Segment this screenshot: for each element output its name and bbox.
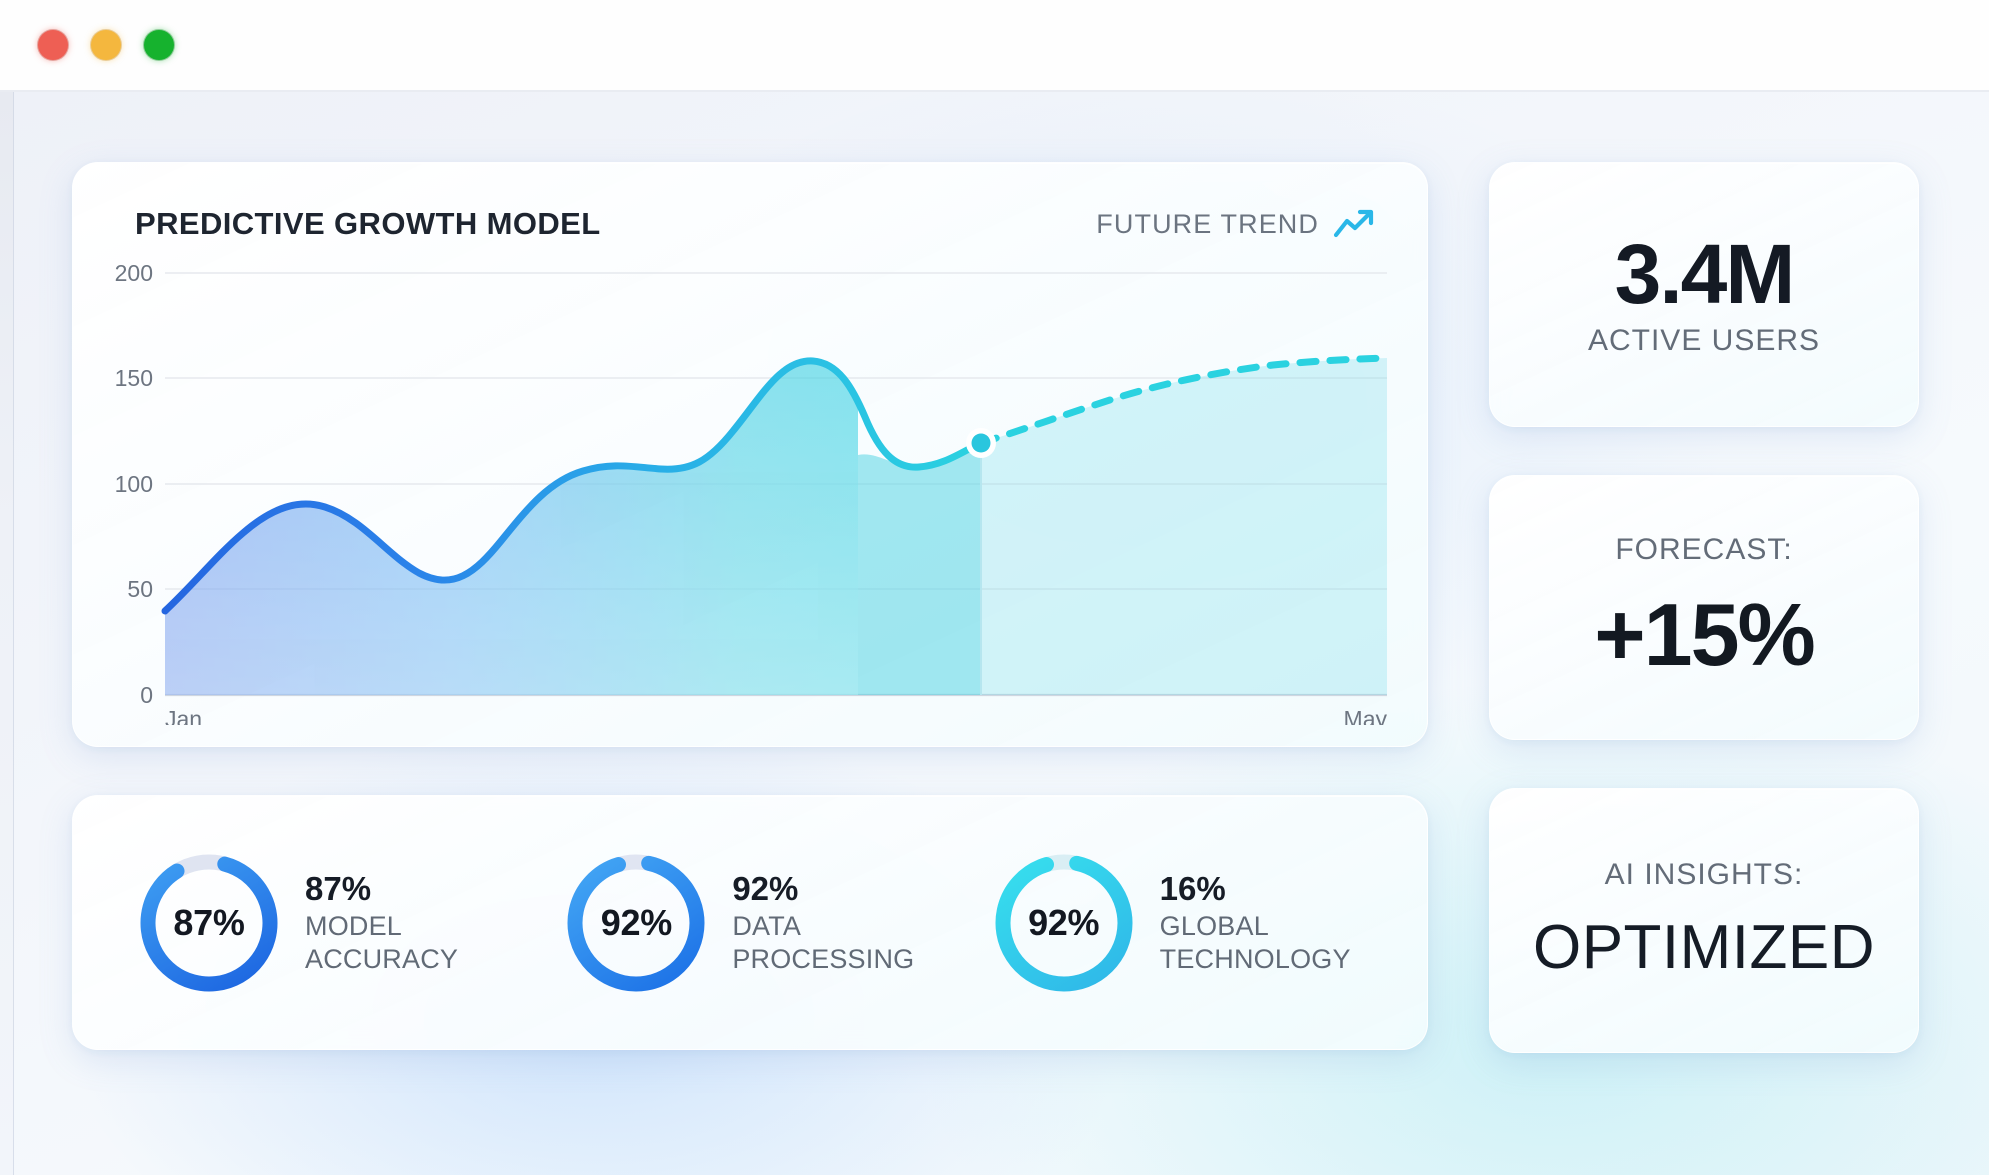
gauge-percent: 16%	[1160, 870, 1351, 909]
growth-area-chart: 200 150 100 50 0	[113, 255, 1387, 725]
page-title: PREDICTIVE GROWTH MODEL	[135, 206, 601, 242]
forecast-start-marker[interactable]	[966, 428, 996, 458]
y-tick-50: 50	[127, 576, 153, 602]
donut-gauge: 92%	[562, 849, 710, 997]
gauge-model-accuracy[interactable]: 87% 87% MODEL ACCURACY	[109, 849, 536, 997]
window-titlebar	[0, 0, 1989, 92]
donut-gauge: 87%	[135, 849, 283, 997]
gauge-name-line2: ACCURACY	[305, 944, 458, 975]
stats-column: 3.4M ACTIVE USERS FORECAST: +15% AI INSI…	[1489, 162, 1859, 1152]
gauge-percent: 92%	[732, 870, 914, 909]
close-button[interactable]	[38, 30, 68, 60]
donut-gauge: 92%	[990, 849, 1138, 997]
x-tick-start: Jan	[165, 706, 202, 725]
gauge-percent: 87%	[305, 870, 458, 909]
gauge-name-line2: PROCESSING	[732, 944, 914, 975]
gauge-name-line1: MODEL	[305, 911, 458, 942]
historical-area-right	[858, 443, 981, 695]
window-left-edge	[0, 92, 14, 1175]
active-users-label: ACTIVE USERS	[1588, 324, 1820, 358]
gauge-name-line1: DATA	[732, 911, 914, 942]
y-tick-150: 150	[115, 365, 153, 391]
forecast-card[interactable]: FORECAST: +15%	[1489, 475, 1919, 740]
gauge-caption: 87% MODEL ACCURACY	[305, 870, 458, 976]
chart-header: PREDICTIVE GROWTH MODEL FUTURE TREND	[113, 201, 1387, 247]
forecast-label: FORECAST:	[1615, 533, 1792, 567]
trending-up-icon	[1333, 208, 1375, 240]
chart-x-axis-labels: Jan May	[165, 706, 1387, 725]
gauge-data-processing[interactable]: 92% 92% DATA PROCESSING	[536, 849, 963, 997]
y-tick-200: 200	[115, 260, 153, 286]
metrics-gauges-card: 87% 87% MODEL ACCURACY	[72, 795, 1428, 1050]
gauge-ring-value: 87%	[135, 849, 283, 997]
ai-insights-value: OPTIMIZED	[1533, 914, 1875, 982]
active-users-value: 3.4M	[1615, 232, 1794, 316]
gauge-caption: 92% DATA PROCESSING	[732, 870, 914, 976]
active-users-card[interactable]: 3.4M ACTIVE USERS	[1489, 162, 1919, 427]
dashboard-canvas: PREDICTIVE GROWTH MODEL FUTURE TREND	[0, 92, 1989, 1175]
chart-plot-area: 200 150 100 50 0	[113, 255, 1387, 725]
dashboard-grid: PREDICTIVE GROWTH MODEL FUTURE TREND	[72, 162, 1917, 1152]
app-window: PREDICTIVE GROWTH MODEL FUTURE TREND	[0, 0, 1989, 1175]
ai-insights-card[interactable]: AI INSIGHTS: OPTIMIZED	[1489, 788, 1919, 1053]
gauge-name-line1: GLOBAL	[1160, 911, 1351, 942]
future-trend-badge[interactable]: FUTURE TREND	[1096, 208, 1375, 240]
chart-y-axis-labels: 200 150 100 50 0	[115, 260, 153, 708]
minimize-button[interactable]	[91, 30, 121, 60]
gauge-ring-value: 92%	[990, 849, 1138, 997]
future-trend-label: FUTURE TREND	[1096, 209, 1319, 240]
forecast-value: +15%	[1594, 589, 1814, 681]
gauge-name-line2: TECHNOLOGY	[1160, 944, 1351, 975]
y-tick-0: 0	[140, 682, 153, 708]
gauge-global-technology[interactable]: 92% 16% GLOBAL TECHNOLOGY	[964, 849, 1391, 997]
traffic-light-group	[38, 30, 174, 60]
y-tick-100: 100	[115, 471, 153, 497]
ai-insights-label: AI INSIGHTS:	[1605, 858, 1804, 892]
gauge-ring-value: 92%	[562, 849, 710, 997]
primary-column: PREDICTIVE GROWTH MODEL FUTURE TREND	[72, 162, 1428, 1152]
zoom-button[interactable]	[144, 30, 174, 60]
x-tick-end: May	[1344, 706, 1387, 725]
gauge-caption: 16% GLOBAL TECHNOLOGY	[1160, 870, 1351, 976]
predictive-growth-chart-card: PREDICTIVE GROWTH MODEL FUTURE TREND	[72, 162, 1428, 747]
forecast-area	[981, 358, 1387, 695]
